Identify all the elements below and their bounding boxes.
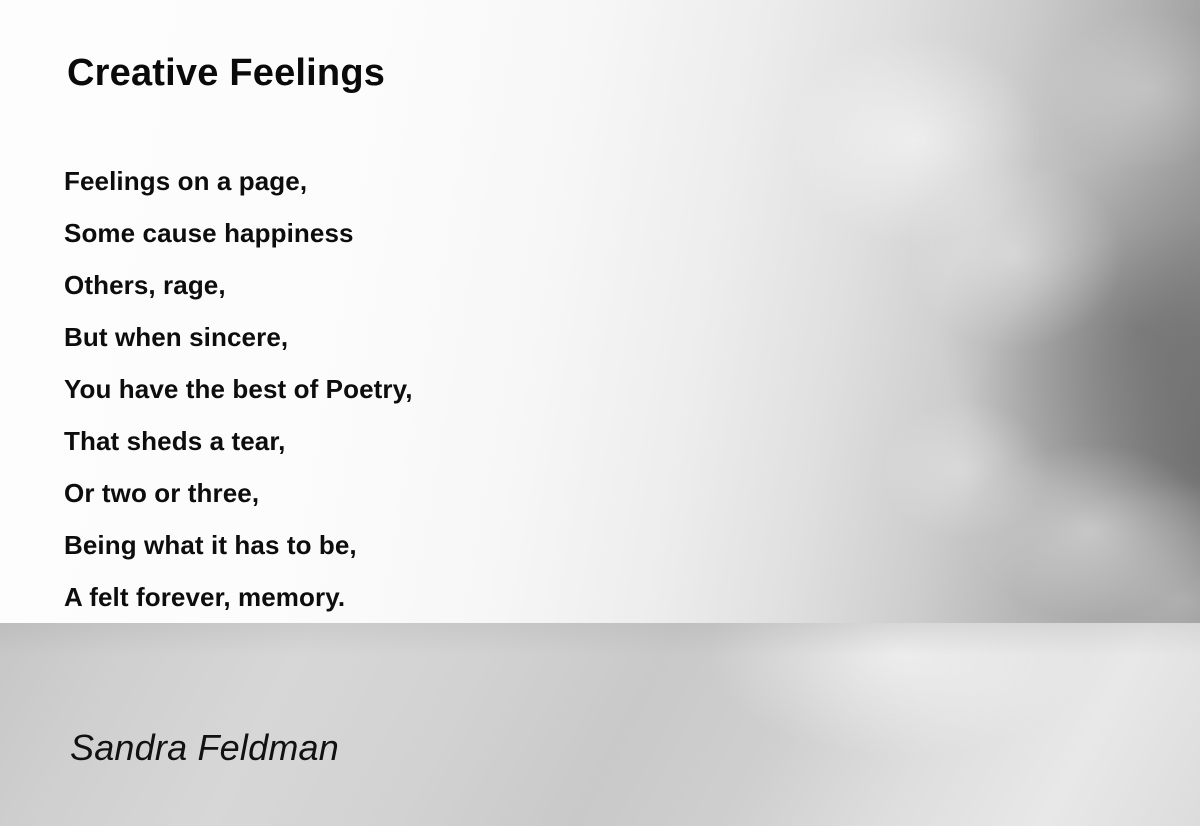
poem-line: Being what it has to be,: [64, 519, 413, 571]
author-name: Sandra Feldman: [70, 727, 339, 769]
poem-line: Feelings on a page,: [64, 155, 413, 207]
poem-line: You have the best of Poetry,: [64, 363, 413, 415]
page-title: Creative Feelings: [67, 52, 385, 96]
poem-body: Feelings on a page, Some cause happiness…: [64, 155, 413, 623]
poem-line: But when sincere,: [64, 311, 413, 363]
poem-background-lower: [0, 623, 1200, 826]
poem-line: Some cause happiness: [64, 207, 413, 259]
poem-line: That sheds a tear,: [64, 415, 413, 467]
poem-image-card: Creative Feelings Feelings on a page, So…: [0, 0, 1200, 826]
poem-line: Others, rage,: [64, 259, 413, 311]
poem-line: A felt forever, memory.: [64, 571, 413, 623]
poem-line: Or two or three,: [64, 467, 413, 519]
